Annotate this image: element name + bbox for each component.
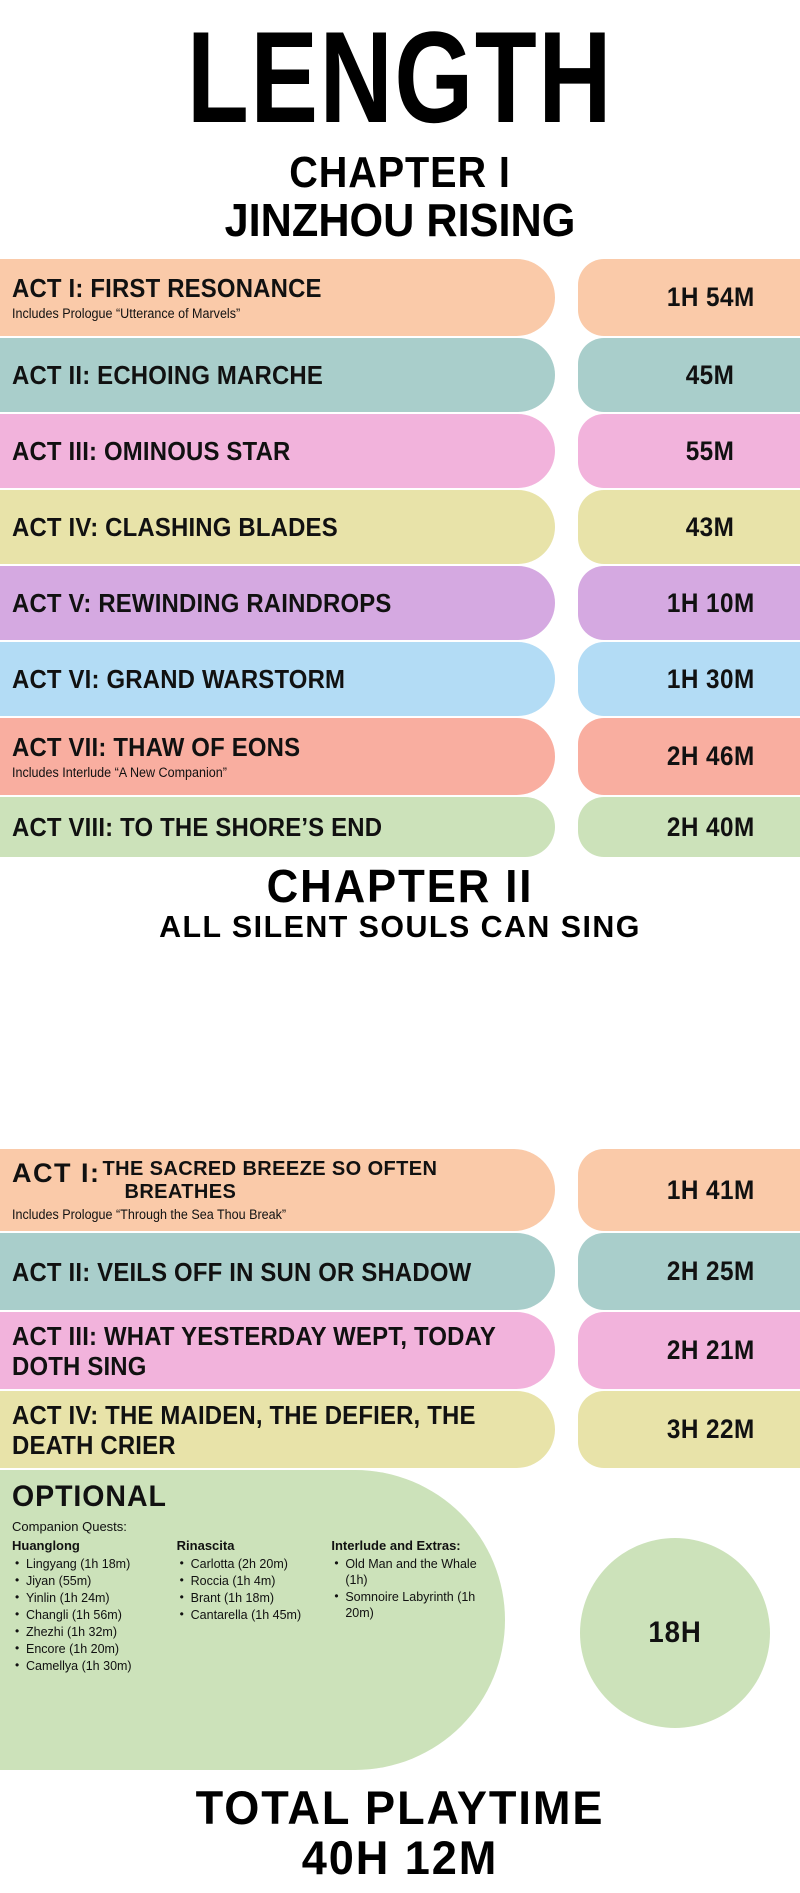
act-duration-pill: 1H 10M — [578, 566, 800, 640]
act-duration-value: 43M — [686, 512, 735, 543]
act-title-bar: ACT III: WHAT YESTERDAY WEPT, TODAY DOTH… — [0, 1312, 555, 1389]
act-duration-value: 1H 41M — [667, 1175, 755, 1206]
act-title: ACT II: VEILS OFF IN SUN OR SHADOW — [12, 1257, 535, 1287]
act-row: ACT III: WHAT YESTERDAY WEPT, TODAY DOTH… — [0, 1312, 800, 1389]
act-row: ACT II: ECHOING MARCHE45M — [0, 338, 800, 412]
act-title: ACT V: REWINDING RAINDROPS — [12, 588, 535, 618]
act-duration-pill: 2H 46M — [578, 718, 800, 795]
optional-heading: OPTIONAL — [12, 1480, 467, 1514]
page-title: LENGTH — [88, 12, 712, 142]
infographic-page: LENGTH CHAPTER I JINZHOU RISING ACT I: F… — [0, 0, 800, 1893]
act-title: ACT III: OMINOUS STAR — [12, 436, 535, 466]
optional-columns: HuanglongLingyang (1h 18m)Jiyan (55m)Yin… — [12, 1537, 491, 1675]
act-duration-pill: 3H 22M — [578, 1391, 800, 1468]
act-duration-pill: 2H 25M — [578, 1233, 800, 1310]
act-row: ACT II: VEILS OFF IN SUN OR SHADOW2H 25M — [0, 1233, 800, 1310]
act-duration-pill: 2H 21M — [578, 1312, 800, 1389]
act-title-bar: ACT V: REWINDING RAINDROPS — [0, 566, 555, 640]
optional-column-heading: Huanglong — [12, 1537, 167, 1554]
act-row: ACT VI: GRAND WARSTORM1H 30M — [0, 642, 800, 716]
optional-column: Interlude and Extras:Old Man and the Wha… — [331, 1537, 491, 1675]
act-number-label: ACT I: — [12, 1158, 100, 1188]
act-row: ACT IV: THE MAIDEN, THE DEFIER, THE DEAT… — [0, 1391, 800, 1468]
act-row: ACT VIII: TO THE SHORE’S END2H 40M — [0, 797, 800, 857]
act-title-bar: ACT IV: THE MAIDEN, THE DEFIER, THE DEAT… — [0, 1391, 555, 1468]
chapter-2-label: CHAPTER II — [20, 862, 780, 910]
act-duration-pill: 1H 41M — [578, 1149, 800, 1231]
act-duration-pill: 55M — [578, 414, 800, 488]
optional-quest-item: Somnoire Labyrinth (1h 20m) — [331, 1589, 481, 1621]
chapter-2-name: ALL SILENT SOULS CAN SING — [8, 910, 792, 944]
act-title-bar: ACT VI: GRAND WARSTORM — [0, 642, 555, 716]
act-row: ACT III: OMINOUS STAR55M — [0, 414, 800, 488]
optional-quest-item: Camellya (1h 30m) — [12, 1658, 167, 1674]
optional-section: OPTIONAL Companion Quests: HuanglongLing… — [0, 1470, 505, 1770]
act-title-bar: ACT II: ECHOING MARCHE — [0, 338, 555, 412]
act-duration-pill: 43M — [578, 490, 800, 564]
act-name-label: THE SACRED BREEZE SO OFTENBREATHES — [100, 1158, 437, 1204]
act-duration-pill: 2H 40M — [578, 797, 800, 857]
optional-quest-item: Yinlin (1h 24m) — [12, 1590, 167, 1606]
act-duration-value: 1H 54M — [667, 282, 755, 313]
optional-column: RinascitaCarlotta (2h 20m)Roccia (1h 4m)… — [177, 1537, 332, 1675]
act-duration-pill: 1H 54M — [578, 259, 800, 336]
chapter-1-name: JINZHOU RISING — [24, 196, 776, 244]
optional-quest-list: Lingyang (1h 18m)Jiyan (55m)Yinlin (1h 2… — [12, 1556, 167, 1674]
act-duration-value: 45M — [686, 360, 735, 391]
optional-quest-item: Old Man and the Whale (1h) — [331, 1556, 481, 1588]
act-title: ACT VII: THAW OF EONS — [12, 732, 535, 762]
optional-quest-item: Jiyan (55m) — [12, 1573, 167, 1589]
act-title: ACT VI: GRAND WARSTORM — [12, 664, 535, 694]
act-duration-value: 2H 40M — [667, 812, 755, 843]
act-duration-value: 2H 21M — [667, 1335, 755, 1366]
optional-quest-list: Old Man and the Whale (1h)Somnoire Labyr… — [331, 1556, 481, 1621]
optional-quest-item: Zhezhi (1h 32m) — [12, 1624, 167, 1640]
optional-quest-item: Lingyang (1h 18m) — [12, 1556, 167, 1572]
act-row: ACT I:THE SACRED BREEZE SO OFTENBREATHES… — [0, 1149, 800, 1231]
act-title: ACT I: FIRST RESONANCE — [12, 273, 535, 303]
act-row: ACT V: REWINDING RAINDROPS1H 10M — [0, 566, 800, 640]
optional-quest-item: Changli (1h 56m) — [12, 1607, 167, 1623]
optional-quest-item: Carlotta (2h 20m) — [177, 1556, 322, 1572]
total-playtime-label: TOTAL PLAYTIME — [16, 1783, 784, 1833]
act-duration-value: 55M — [686, 436, 735, 467]
act-title: ACT I:THE SACRED BREEZE SO OFTENBREATHES — [12, 1158, 535, 1204]
optional-subheading: Companion Quests: — [12, 1518, 491, 1535]
act-duration-value: 1H 10M — [667, 588, 755, 619]
total-playtime-value: 40H 12M — [16, 1833, 784, 1883]
act-duration-value: 3H 22M — [667, 1414, 755, 1445]
act-row: ACT VII: THAW OF EONSIncludes Interlude … — [0, 718, 800, 795]
act-title: ACT II: ECHOING MARCHE — [12, 360, 535, 390]
act-title-bar: ACT IV: CLASHING BLADES — [0, 490, 555, 564]
optional-quest-item: Cantarella (1h 45m) — [177, 1607, 322, 1623]
optional-quest-item: Roccia (1h 4m) — [177, 1573, 322, 1589]
act-title: ACT III: WHAT YESTERDAY WEPT, TODAY DOTH… — [12, 1321, 535, 1381]
optional-column-heading: Interlude and Extras: — [331, 1537, 481, 1554]
act-title: ACT IV: CLASHING BLADES — [12, 512, 535, 542]
optional-column: HuanglongLingyang (1h 18m)Jiyan (55m)Yin… — [12, 1537, 177, 1675]
optional-column-heading: Rinascita — [177, 1537, 322, 1554]
optional-quest-item: Encore (1h 20m) — [12, 1641, 167, 1657]
act-title-bar: ACT I:THE SACRED BREEZE SO OFTENBREATHES… — [0, 1149, 555, 1231]
optional-duration-value: 18H — [648, 1616, 701, 1650]
act-title-bar: ACT II: VEILS OFF IN SUN OR SHADOW — [0, 1233, 555, 1310]
act-title-bar: ACT VII: THAW OF EONSIncludes Interlude … — [0, 718, 555, 795]
act-title: ACT VIII: TO THE SHORE’S END — [12, 812, 535, 842]
optional-duration-badge: 18H — [580, 1538, 770, 1728]
optional-quest-list: Carlotta (2h 20m)Roccia (1h 4m)Brant (1h… — [177, 1556, 322, 1623]
act-note: Includes Prologue “Through the Sea Thou … — [12, 1207, 535, 1223]
act-row: ACT IV: CLASHING BLADES43M — [0, 490, 800, 564]
act-note: Includes Prologue “Utterance of Marvels” — [12, 306, 535, 322]
act-duration-value: 1H 30M — [667, 664, 755, 695]
act-duration-pill: 1H 30M — [578, 642, 800, 716]
act-row: ACT I: FIRST RESONANCEIncludes Prologue … — [0, 259, 800, 336]
act-duration-pill: 45M — [578, 338, 800, 412]
optional-quest-item: Brant (1h 18m) — [177, 1590, 322, 1606]
act-note: Includes Interlude “A New Companion” — [12, 765, 535, 781]
act-title: ACT IV: THE MAIDEN, THE DEFIER, THE DEAT… — [12, 1400, 535, 1460]
chapter-1-label: CHAPTER I — [40, 150, 760, 196]
act-title-bar: ACT I: FIRST RESONANCEIncludes Prologue … — [0, 259, 555, 336]
act-duration-value: 2H 46M — [667, 741, 755, 772]
act-duration-value: 2H 25M — [667, 1256, 755, 1287]
act-title-bar: ACT III: OMINOUS STAR — [0, 414, 555, 488]
act-title-bar: ACT VIII: TO THE SHORE’S END — [0, 797, 555, 857]
